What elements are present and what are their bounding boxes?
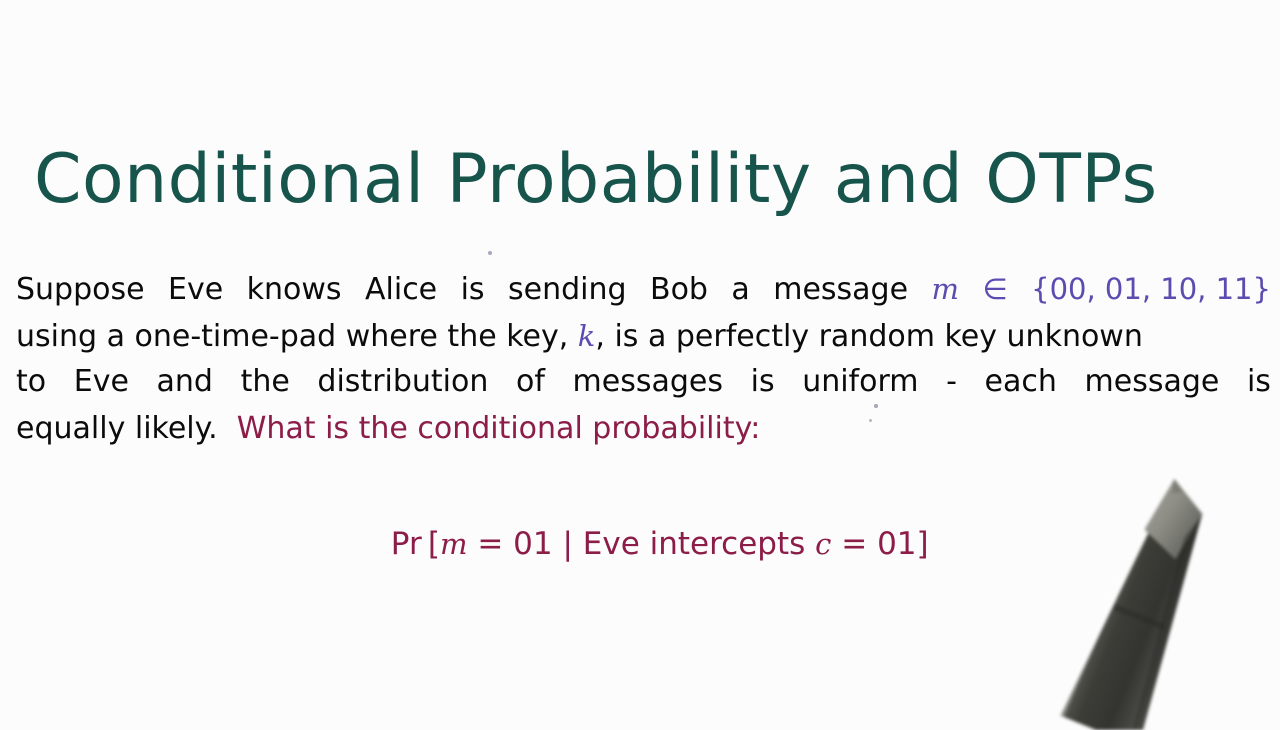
word: messages bbox=[573, 359, 723, 406]
line2-text-b: , is a perfectly random key unknown bbox=[595, 314, 1143, 361]
word: message bbox=[1085, 359, 1220, 406]
line4-text-a: equally likely. bbox=[16, 406, 218, 453]
formula-pr: Pr [ bbox=[391, 526, 440, 562]
word: Eve bbox=[74, 359, 129, 406]
word: uniform bbox=[802, 359, 918, 406]
slide-body-text: Suppose Eve knows Alice is sending Bob a… bbox=[16, 266, 1271, 452]
word: message bbox=[773, 267, 908, 314]
word: to bbox=[16, 359, 46, 406]
formula-math-m: m bbox=[440, 527, 468, 561]
word: sending bbox=[508, 267, 627, 314]
formula-math-c: c bbox=[815, 527, 831, 561]
word: Bob bbox=[650, 267, 708, 314]
word: Alice bbox=[365, 267, 437, 314]
word: and bbox=[157, 359, 213, 406]
body-line-4: equally likely. What is the conditional … bbox=[16, 406, 1271, 453]
math-message-set: {00, 01, 10, 11} bbox=[1031, 266, 1271, 313]
formula-eq2: = 01] bbox=[831, 526, 928, 562]
word: Suppose bbox=[16, 267, 145, 314]
body-line-1: Suppose Eve knows Alice is sending Bob a… bbox=[16, 266, 1271, 313]
word: is bbox=[751, 359, 775, 406]
ink-dot-artifact bbox=[869, 419, 872, 422]
question-prompt: What is the conditional probability: bbox=[237, 406, 761, 453]
line2-text-a: using a one-time-pad where the key, bbox=[16, 314, 568, 361]
word: of bbox=[516, 359, 545, 406]
word: distribution bbox=[317, 359, 488, 406]
body-line-2: using a one-time-pad where the key, k , … bbox=[16, 313, 1271, 360]
math-element-of-symbol: ∈ bbox=[982, 266, 1007, 313]
word: is bbox=[1247, 359, 1271, 406]
word: the bbox=[241, 359, 290, 406]
ink-dot-artifact bbox=[488, 251, 492, 255]
ink-dot-artifact bbox=[874, 404, 878, 408]
probability-expression: Pr [m = 01 | Eve intercepts c = 01] bbox=[0, 478, 1280, 610]
formula-eq1: = 01 | Eve intercepts bbox=[467, 526, 815, 562]
word: - bbox=[946, 359, 957, 406]
word: Eve bbox=[168, 267, 223, 314]
page-title: Conditional Probability and OTPs bbox=[34, 138, 1264, 222]
word: a bbox=[731, 267, 749, 314]
word: each bbox=[985, 359, 1057, 406]
body-line-3: to Eve and the distribution of messages … bbox=[16, 359, 1271, 406]
word: knows bbox=[247, 267, 342, 314]
slide-canvas: Conditional Probability and OTPs Suppose… bbox=[0, 0, 1280, 720]
math-variable-m: m bbox=[932, 266, 960, 313]
math-variable-k: k bbox=[578, 313, 596, 360]
word: is bbox=[461, 267, 485, 314]
